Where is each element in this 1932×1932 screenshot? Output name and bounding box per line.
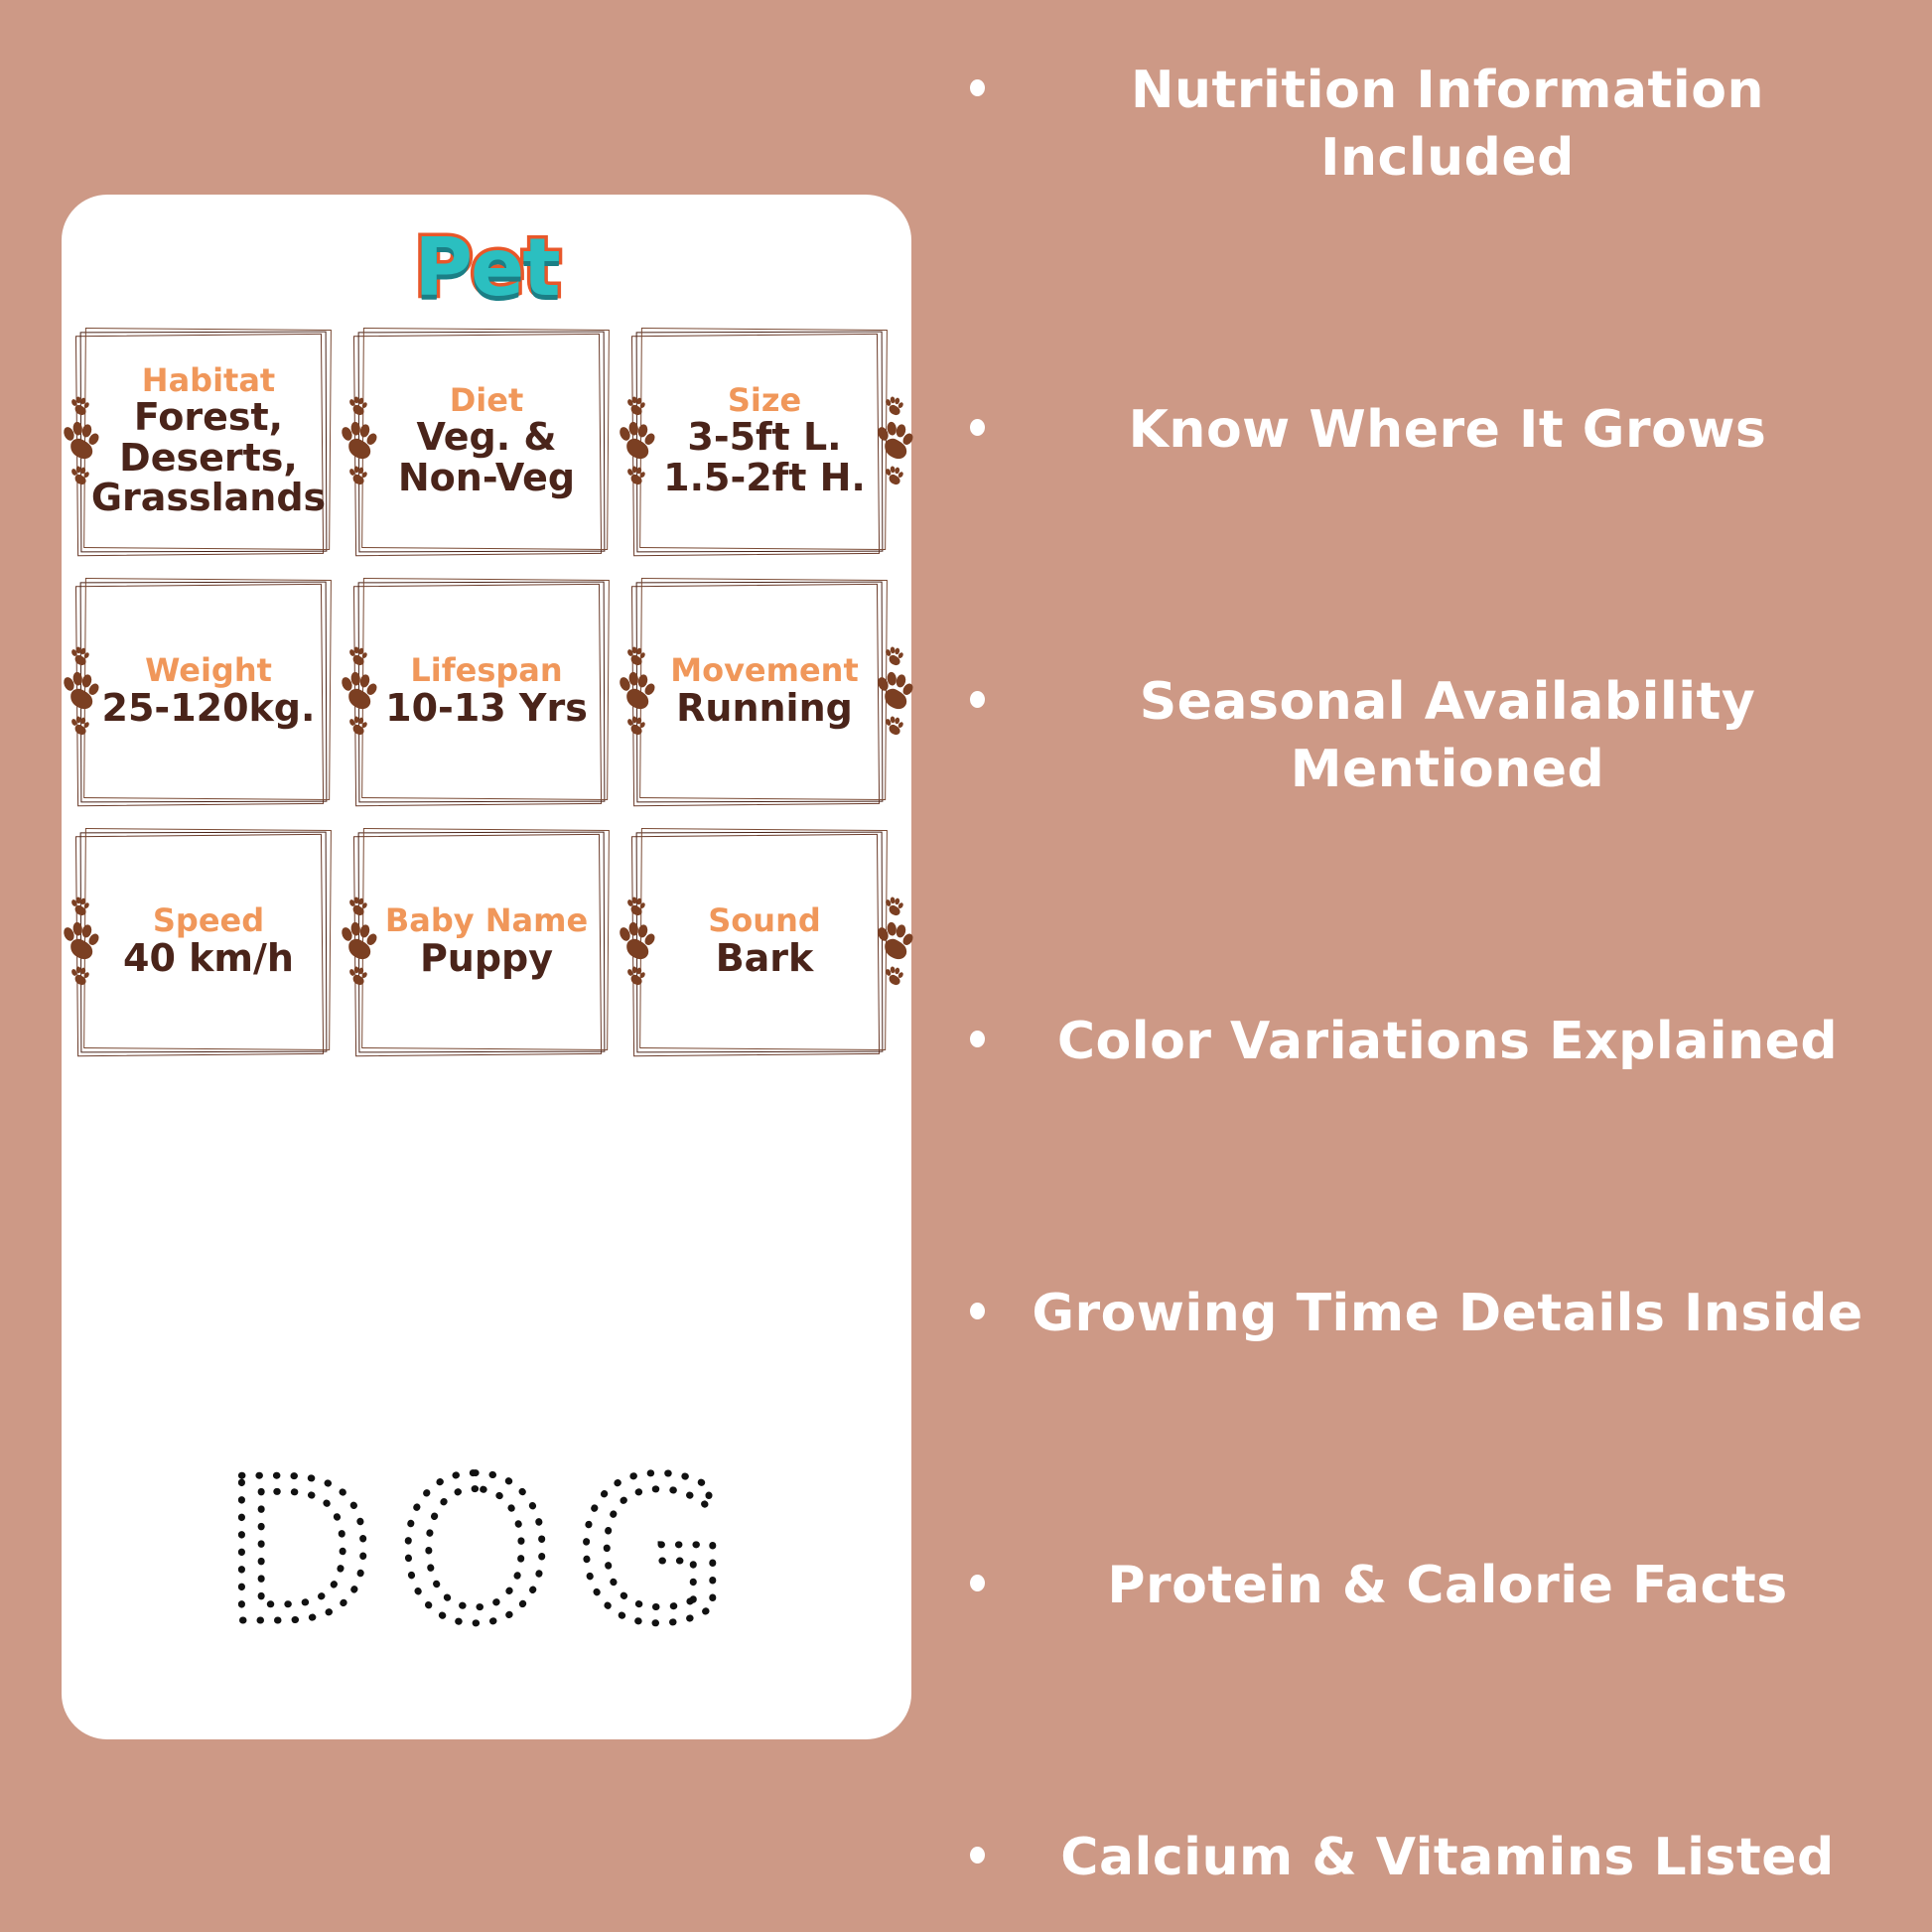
poster-canvas: Pet HabitatForest,Deserts,GrasslandsDiet… bbox=[0, 0, 1932, 1932]
bullet-label: Nutrition Information Included bbox=[1009, 58, 1898, 192]
fact-card[interactable]: Baby NamePuppy bbox=[347, 816, 625, 1066]
fact-grid: HabitatForest,Deserts,GrasslandsDietVeg.… bbox=[69, 316, 903, 1066]
bullet-item: Growing Time Details Inside bbox=[945, 1281, 1898, 1348]
paw-print-icon bbox=[335, 371, 380, 510]
fact-card[interactable]: Speed40 km/h bbox=[69, 816, 347, 1066]
fact-value-line: Grasslands bbox=[91, 478, 326, 517]
bullet-label: Know Where It Grows bbox=[1009, 397, 1898, 465]
bullet-item: Nutrition Information Included bbox=[945, 58, 1898, 192]
fact-value-line: 40 km/h bbox=[123, 938, 294, 978]
fact-value: Forest,Deserts,Grasslands bbox=[91, 397, 326, 517]
fact-card[interactable]: Size3-5ft L.1.5-2ft H. bbox=[625, 316, 903, 566]
pet-logo-text: Pet bbox=[414, 220, 558, 316]
fact-value-line: 10-13 Yrs bbox=[385, 688, 588, 728]
bullet-item: Know Where It Grows bbox=[945, 397, 1898, 465]
fact-value-line: Bark bbox=[716, 938, 814, 978]
fact-value-line: 25-120kg. bbox=[102, 688, 316, 728]
fact-label: Baby Name bbox=[385, 904, 588, 937]
fact-label: Lifespan bbox=[410, 654, 562, 687]
fact-label: Movement bbox=[670, 654, 859, 687]
svg-text:DOG: DOG bbox=[222, 1461, 751, 1660]
fact-value: 10-13 Yrs bbox=[385, 688, 588, 728]
paw-print-icon bbox=[613, 371, 658, 510]
fact-value-line: Puppy bbox=[420, 938, 553, 978]
paw-print-icon bbox=[871, 872, 916, 1011]
fact-value-line: 1.5-2ft H. bbox=[663, 458, 866, 497]
fact-label: Speed bbox=[153, 904, 264, 937]
fact-value-line: Forest, bbox=[91, 397, 326, 437]
bullet-item: Protein & Calorie Facts bbox=[945, 1553, 1898, 1620]
fact-value: 25-120kg. bbox=[102, 688, 316, 728]
bullet-label: Color Variations Explained bbox=[1009, 1009, 1898, 1076]
paw-print-icon bbox=[613, 872, 658, 1011]
fact-label: Sound bbox=[708, 904, 821, 937]
bullet-label: Calcium & Vitamins Listed bbox=[1009, 1825, 1898, 1892]
bullet-dot-icon bbox=[945, 669, 1009, 708]
pet-logo: Pet bbox=[62, 220, 911, 320]
dotted-trace-letters: DOG bbox=[208, 1461, 764, 1660]
fact-label: Diet bbox=[450, 384, 524, 417]
bullet-dot-icon bbox=[945, 397, 1009, 436]
feature-bullet-list: Nutrition Information IncludedKnow Where… bbox=[945, 0, 1932, 1932]
fact-value: 3-5ft L.1.5-2ft H. bbox=[663, 417, 866, 497]
paw-print-icon bbox=[613, 621, 658, 760]
paw-print-icon bbox=[871, 371, 916, 510]
bullet-label: Protein & Calorie Facts bbox=[1009, 1553, 1898, 1620]
fact-card[interactable]: SoundBark bbox=[625, 816, 903, 1066]
fact-value: Bark bbox=[716, 938, 814, 978]
bullet-dot-icon bbox=[945, 1281, 1009, 1319]
paw-print-icon bbox=[57, 872, 102, 1011]
fact-value-line: 3-5ft L. bbox=[663, 417, 866, 457]
fact-card[interactable]: HabitatForest,Deserts,Grasslands bbox=[69, 316, 347, 566]
bullet-dot-icon bbox=[945, 1009, 1009, 1047]
paw-print-icon bbox=[871, 621, 916, 760]
fact-label: Weight bbox=[145, 654, 272, 687]
fact-card[interactable]: DietVeg. &Non-Veg bbox=[347, 316, 625, 566]
bullet-label: Growing Time Details Inside bbox=[1009, 1281, 1898, 1348]
fact-value-line: Deserts, bbox=[91, 438, 326, 478]
bullet-dot-icon bbox=[945, 58, 1009, 96]
fact-card[interactable]: Lifespan10-13 Yrs bbox=[347, 566, 625, 816]
paw-print-icon bbox=[335, 872, 380, 1011]
dog-trace-word: DOG bbox=[62, 1461, 911, 1670]
fact-label: Habitat bbox=[142, 364, 275, 397]
bullet-item: Calcium & Vitamins Listed bbox=[945, 1825, 1898, 1892]
fact-card[interactable]: Weight25-120kg. bbox=[69, 566, 347, 816]
fact-label: Size bbox=[728, 384, 801, 417]
fact-value: Veg. &Non-Veg bbox=[398, 417, 575, 497]
paw-print-icon bbox=[335, 621, 380, 760]
bullet-dot-icon bbox=[945, 1825, 1009, 1863]
bullet-dot-icon bbox=[945, 1553, 1009, 1591]
bullet-label: Seasonal Availability Mentioned bbox=[1009, 669, 1898, 803]
fact-value-line: Veg. & bbox=[398, 417, 575, 457]
pet-fact-card-panel: Pet HabitatForest,Deserts,GrasslandsDiet… bbox=[62, 195, 911, 1739]
fact-value: Puppy bbox=[420, 938, 553, 978]
paw-print-icon bbox=[57, 621, 102, 760]
bullet-item: Seasonal Availability Mentioned bbox=[945, 669, 1898, 803]
bullet-item: Color Variations Explained bbox=[945, 1009, 1898, 1076]
fact-value: Running bbox=[676, 688, 853, 728]
paw-print-icon bbox=[57, 371, 102, 510]
fact-card[interactable]: MovementRunning bbox=[625, 566, 903, 816]
fact-value-line: Non-Veg bbox=[398, 458, 575, 497]
fact-value-line: Running bbox=[676, 688, 853, 728]
fact-value: 40 km/h bbox=[123, 938, 294, 978]
